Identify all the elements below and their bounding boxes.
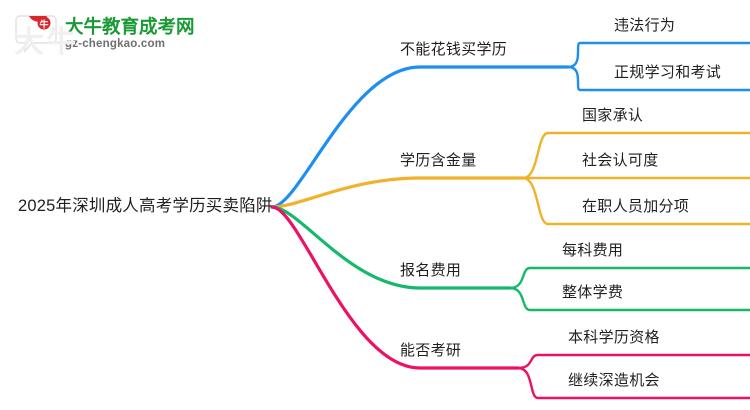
branch-4-label[interactable]: 能否考研: [400, 343, 461, 358]
branch-3-child-1-label[interactable]: 整体学费: [562, 285, 623, 300]
branch-1-child-0-label[interactable]: 违法行为: [614, 18, 675, 33]
branch-1-child-1-label[interactable]: 正规学习和考试: [614, 65, 721, 80]
branch-2-trunk: [272, 178, 523, 207]
branch-1-trunk: [272, 67, 568, 207]
branch-3-child-1-line: [510, 288, 750, 310]
branch-2-child-1-label[interactable]: 社会认可度: [582, 153, 659, 168]
branch-4-child-1-label[interactable]: 继续深造机会: [568, 373, 660, 388]
branch-4-child-0-line: [518, 355, 750, 368]
branch-2-child-2-label[interactable]: 在职人员加分项: [582, 199, 689, 214]
mindmap-root-label[interactable]: 2025年深圳成人高考学历买卖陷阱: [18, 198, 273, 215]
branch-4-child-0-label[interactable]: 本科学历资格: [568, 330, 660, 345]
branch-3-child-0-label[interactable]: 每科费用: [562, 243, 623, 258]
branch-2-label[interactable]: 学历含金量: [400, 153, 477, 168]
branch-3-child-0-line: [510, 268, 750, 288]
branch-3-label[interactable]: 报名费用: [400, 263, 461, 278]
mindmap-canvas: 牛 大牛 大牛教育成考网 gz-chengkao.com 2025年深圳成人高考…: [0, 0, 750, 410]
branch-2-child-0-label[interactable]: 国家承认: [582, 108, 643, 123]
branch-1-label[interactable]: 不能花钱买学历: [400, 42, 507, 57]
